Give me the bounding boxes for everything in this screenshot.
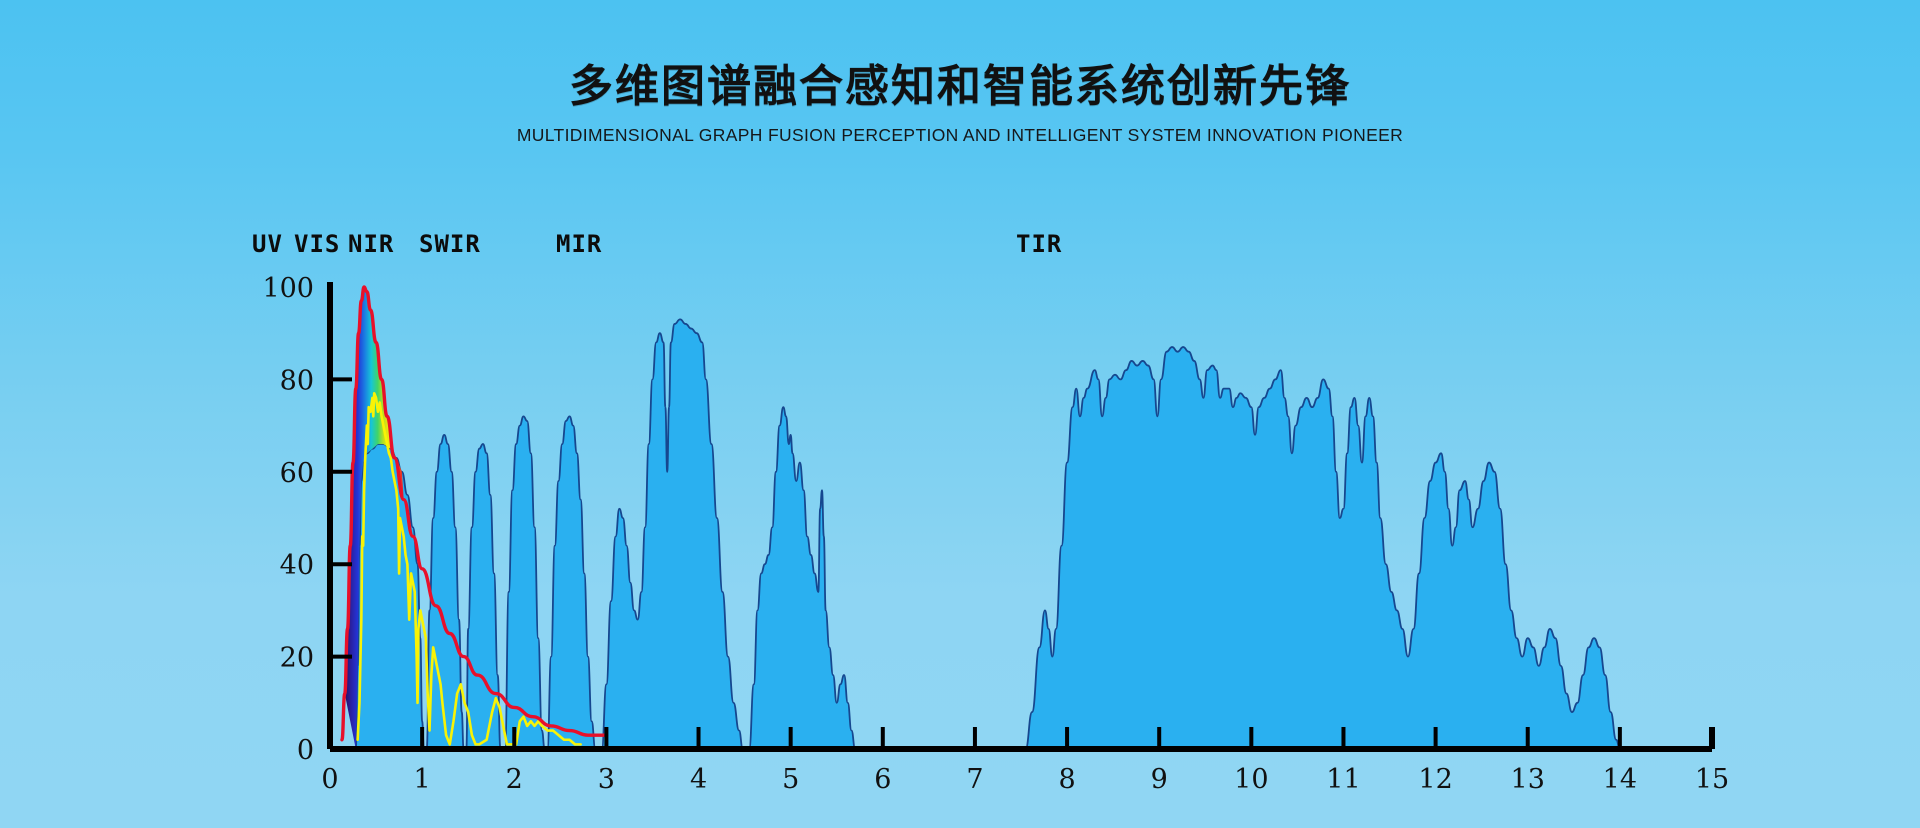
x-tick-label: 15: [1695, 764, 1729, 795]
poster-canvas: 多维图谱融合感知和智能系统创新先锋 MULTIDIMENSIONAL GRAPH…: [0, 0, 1920, 828]
chart-svg: 0204060801000123456789101112131415: [0, 0, 1920, 828]
x-tick-label: 5: [782, 764, 799, 795]
y-tick-label: 60: [280, 458, 314, 489]
x-tick-label: 4: [690, 764, 707, 795]
x-tick-label: 10: [1234, 764, 1268, 795]
y-tick-label: 100: [262, 273, 314, 304]
x-tick-label: 9: [1151, 764, 1168, 795]
x-tick-label: 12: [1418, 764, 1452, 795]
transmission-fill: [330, 319, 1620, 749]
y-tick-label: 40: [280, 550, 314, 581]
x-tick-label: 14: [1603, 764, 1637, 795]
transmission-area-series: [330, 319, 1620, 749]
x-tick-label: 8: [1058, 764, 1075, 795]
x-tick-label: 7: [966, 764, 983, 795]
x-tick-label: 13: [1511, 764, 1545, 795]
x-tick-label: 1: [414, 764, 431, 795]
y-tick-label: 80: [280, 365, 314, 396]
x-tick-label: 3: [598, 764, 615, 795]
x-tick-label: 6: [874, 764, 891, 795]
x-tick-label: 0: [321, 764, 338, 795]
x-tick-label: 2: [506, 764, 523, 795]
spectrum-chart: 0204060801000123456789101112131415: [0, 0, 1920, 828]
y-tick-label: 20: [280, 643, 314, 674]
y-tick-label: 0: [297, 735, 314, 766]
x-tick-label: 11: [1326, 764, 1360, 795]
